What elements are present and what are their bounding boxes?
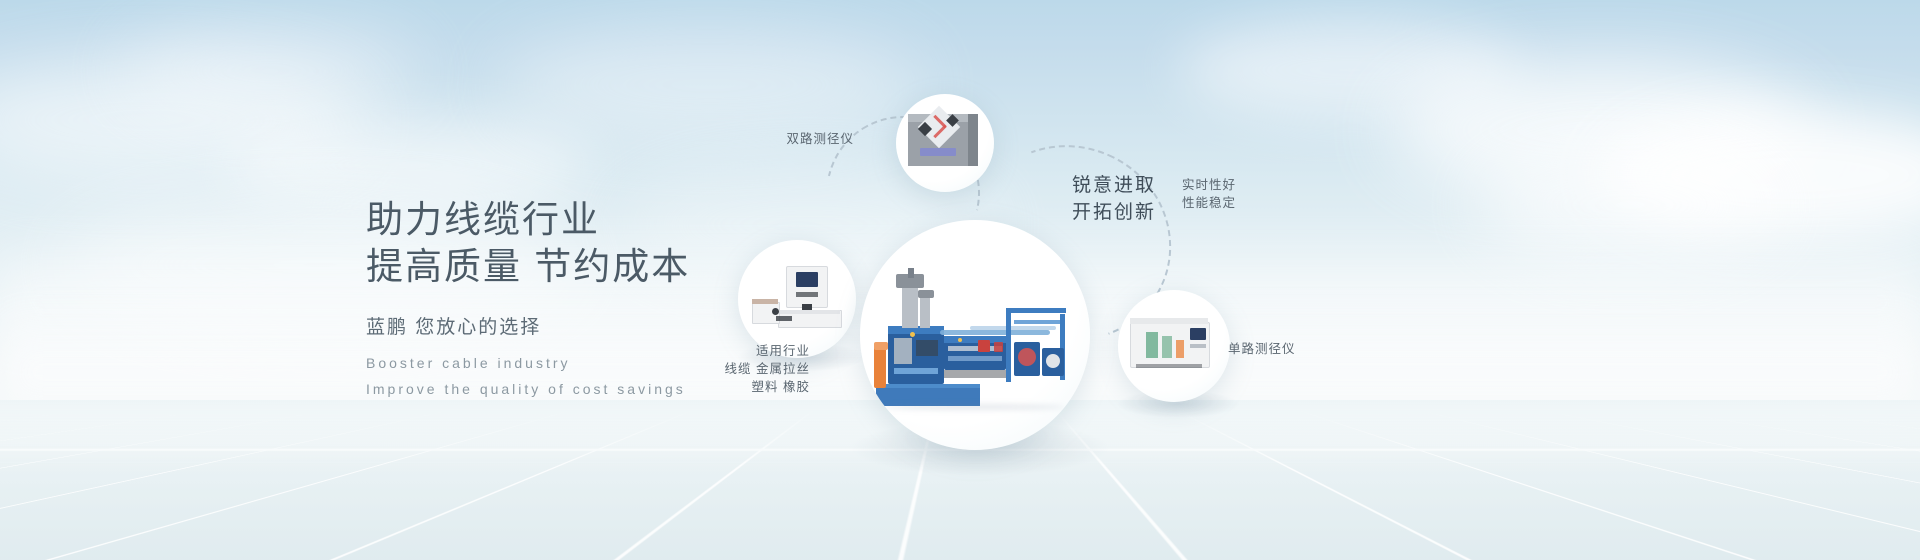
product-composition: 双路测径仪 单路测径仪 锐意进取 开拓创新 实时性好 性能稳定 适用行业 线缆 … (700, 60, 1320, 510)
bubble-extrusion-line[interactable] (860, 220, 1090, 450)
cloud-shape (120, 26, 420, 116)
industry-line-1: 线缆 金属拉丝 (660, 360, 810, 378)
slogan-line-1: 锐意进取 (1072, 172, 1156, 199)
hero-banner: 助力线缆行业 提高质量 节约成本 蓝鹏 您放心的选择 Booster cable… (0, 0, 1920, 560)
industry-line-2: 塑料 橡胶 (660, 378, 810, 396)
feature-line-2: 性能稳定 (1182, 194, 1236, 212)
controller-device (752, 266, 844, 332)
bubble-dual-gauge[interactable] (896, 94, 994, 192)
label-industries: 适用行业 线缆 金属拉丝 塑料 橡胶 (660, 342, 810, 396)
label-single-gauge-text: 单路测径仪 (1228, 342, 1296, 356)
device-brand-plate (920, 148, 956, 156)
single-gauge-device (1130, 314, 1220, 376)
feature-line-1: 实时性好 (1182, 176, 1236, 194)
label-single-gauge: 单路测径仪 (1228, 340, 1296, 358)
slogan-line-2: 开拓创新 (1072, 199, 1156, 226)
dual-gauge-device (908, 110, 982, 172)
industry-title: 适用行业 (660, 342, 810, 360)
extrusion-line-machine (874, 268, 1076, 418)
bubble-single-gauge[interactable] (1118, 290, 1230, 402)
slogan-block: 锐意进取 开拓创新 (1072, 172, 1156, 226)
label-features: 实时性好 性能稳定 (1182, 176, 1236, 212)
bubble-controller[interactable] (738, 240, 856, 358)
label-dual-gauge-text: 双路测径仪 (786, 132, 854, 146)
label-dual-gauge: 双路测径仪 (694, 130, 854, 148)
